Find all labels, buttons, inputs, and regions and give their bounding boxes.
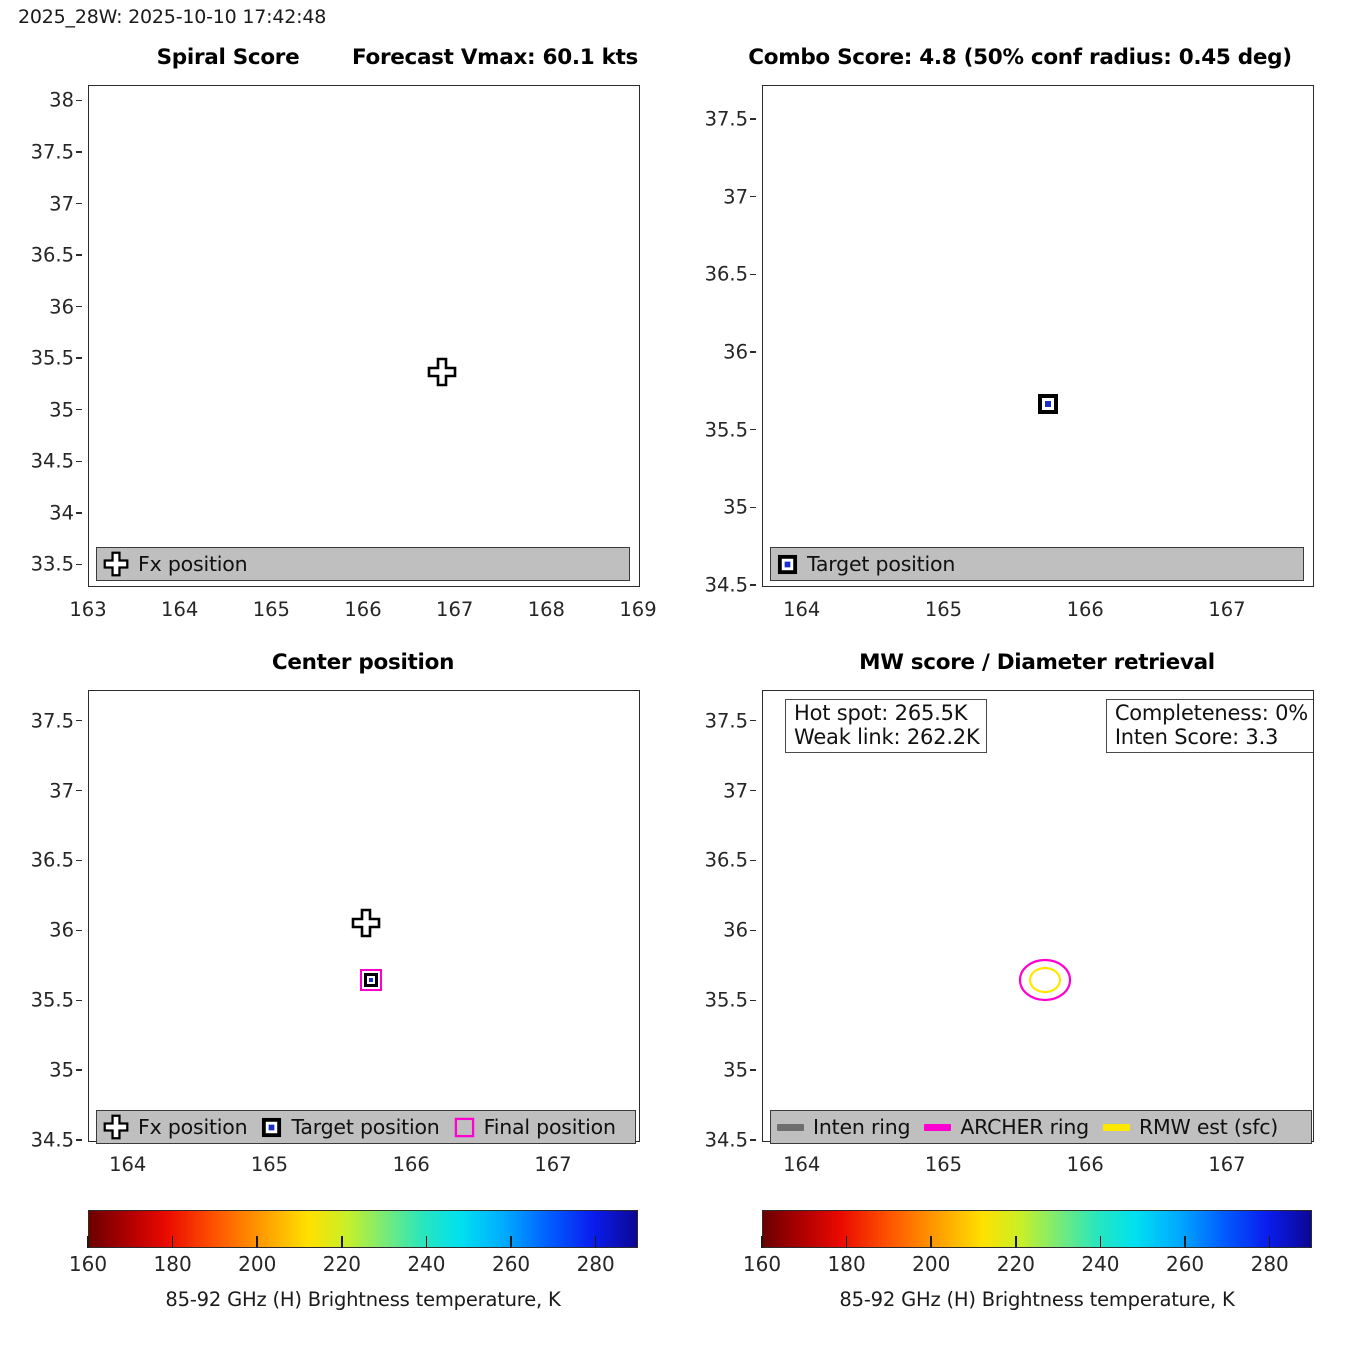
- legend-entry-fx-position: Fx position: [103, 1114, 247, 1140]
- mwscore-x-axis: 164165166167: [762, 1147, 1312, 1175]
- y-axis-tickmark: [76, 306, 82, 307]
- y-axis-tickmark: [76, 930, 82, 931]
- y-axis-tick-label: 34.5: [705, 1129, 748, 1152]
- y-axis-tickmark: [76, 720, 82, 721]
- panel-spiral-title-right: Forecast Vmax: 60.1 kts: [340, 45, 650, 70]
- mwscore-grid-overlay: [763, 691, 1313, 1141]
- y-axis-tickmark: [76, 100, 82, 101]
- colorbar-ticklabel: 280: [1251, 1252, 1289, 1276]
- y-axis-tick-label: 37: [49, 192, 74, 215]
- y-axis-tick-label: 35: [723, 496, 748, 519]
- y-axis-tick-label: 37.5: [31, 709, 74, 732]
- target-square-icon: [777, 554, 798, 575]
- x-axis-tick-label: 163: [69, 598, 106, 621]
- x-axis-tick-label: 165: [925, 598, 962, 621]
- y-axis-tick-label: 36: [723, 919, 748, 942]
- y-axis-tickmark: [76, 151, 82, 152]
- x-axis-tick-label: 167: [1208, 598, 1245, 621]
- inten-score-value: Inten Score: 3.3: [1115, 726, 1308, 750]
- y-axis-tickmark: [76, 1069, 82, 1070]
- y-axis-tick-label: 35.5: [31, 989, 74, 1012]
- colorbar-tickmark: [1269, 1236, 1271, 1248]
- center-plot-area[interactable]: [88, 690, 640, 1142]
- spiral-plot-area[interactable]: [88, 85, 640, 587]
- colorbar-tickmark: [930, 1236, 932, 1248]
- x-axis-tick-label: 169: [619, 598, 656, 621]
- y-axis-tickmark: [76, 254, 82, 255]
- y-axis-tickmark: [750, 584, 756, 585]
- colorbar-ticklabel: 280: [577, 1252, 615, 1276]
- colorbar-right-strip: [762, 1210, 1312, 1248]
- y-axis-tickmark: [76, 860, 82, 861]
- colorbar-ticklabel: 260: [492, 1252, 530, 1276]
- y-axis-tick-label: 36.5: [31, 244, 74, 267]
- y-axis-tickmark: [750, 720, 756, 721]
- spiral-contour-overlay: [89, 86, 639, 586]
- panel-mwscore-title: MW score / Diameter retrieval: [762, 650, 1312, 675]
- y-axis-tick-label: 38: [49, 89, 74, 112]
- spiral-y-axis: 3837.53736.53635.53534.53433.5: [0, 85, 82, 585]
- y-axis-tick-label: 34.5: [31, 1129, 74, 1152]
- mwscore-annotation-right: Completeness: 0% Inten Score: 3.3: [1106, 699, 1314, 753]
- y-axis-tick-label: 37.5: [705, 108, 748, 131]
- header-timestamp: 2025_28W: 2025-10-10 17:42:48: [18, 6, 326, 28]
- x-axis-tick-label: 166: [344, 598, 381, 621]
- x-axis-tick-label: 166: [1067, 598, 1104, 621]
- y-axis-tick-label: 36: [49, 919, 74, 942]
- figure-canvas: 2025_28W: 2025-10-10 17:42:48 Spiral Sco…: [0, 0, 1350, 1350]
- y-axis-tick-label: 35.5: [31, 347, 74, 370]
- combo-plot-area[interactable]: [762, 85, 1314, 587]
- archer-ring: [1020, 960, 1070, 1000]
- legend-label-archer-ring: ARCHER ring: [960, 1115, 1089, 1139]
- y-axis-tickmark: [750, 860, 756, 861]
- colorbar-left-wrap: 160180200220240260280 85-92 GHz (H) Brig…: [88, 1210, 638, 1320]
- y-axis-tick-label: 37: [49, 779, 74, 802]
- y-axis-tick-label: 36.5: [705, 849, 748, 872]
- colorbar-ticklabel: 220: [323, 1252, 361, 1276]
- x-axis-tick-label: 164: [783, 1153, 820, 1176]
- legend-entry-archer-ring: ARCHER ring: [924, 1115, 1089, 1139]
- y-axis-tickmark: [76, 461, 82, 462]
- combo-legend: Target position: [770, 547, 1304, 581]
- fx-position-marker: [351, 908, 381, 938]
- fx-cross-icon: [103, 551, 129, 577]
- fx-position-marker: [427, 357, 457, 387]
- x-axis-tick-label: 166: [1067, 1153, 1104, 1176]
- y-axis-tick-label: 36: [723, 341, 748, 364]
- colorbar-ticklabel: 200: [238, 1252, 276, 1276]
- y-axis-tick-label: 34.5: [705, 574, 748, 597]
- colorbar-tickmark: [761, 1236, 763, 1248]
- rmw-ring-icon: [1103, 1124, 1130, 1131]
- colorbar-tickmark: [172, 1236, 174, 1248]
- combo-score-contour-overlay: [763, 86, 1313, 586]
- y-axis-tickmark: [76, 564, 82, 565]
- y-axis-tickmark: [76, 203, 82, 204]
- colorbar-tickmark: [846, 1236, 848, 1248]
- spiral-x-axis: 163164165166167168169: [88, 592, 638, 620]
- mwscore-legend: Inten ring ARCHER ring RMW est (sfc): [770, 1110, 1312, 1144]
- mwscore-plot-area[interactable]: Hot spot: 265.5K Weak link: 262.2K Compl…: [762, 690, 1314, 1142]
- legend-label-target-position: Target position: [291, 1115, 439, 1139]
- center-y-axis: 37.53736.53635.53534.5: [0, 690, 82, 1140]
- target-square-icon: [261, 1117, 282, 1138]
- legend-entry-final-position: Final position: [454, 1115, 616, 1139]
- y-axis-tick-label: 35.5: [705, 989, 748, 1012]
- fx-cross-icon: [103, 1114, 129, 1140]
- colorbar-tickmark: [341, 1236, 343, 1248]
- colorbar-tickmark: [256, 1236, 258, 1248]
- colorbar-left-strip: [88, 1210, 638, 1248]
- hot-spot-value: Hot spot: 265.5K: [794, 702, 980, 726]
- colorbar-tickmark: [426, 1236, 428, 1248]
- rmw-ring: [1030, 968, 1060, 992]
- y-axis-tickmark: [750, 274, 756, 275]
- colorbar-ticklabel: 200: [912, 1252, 950, 1276]
- y-axis-tick-label: 37.5: [705, 709, 748, 732]
- y-axis-tick-label: 35.5: [705, 418, 748, 441]
- colorbar-ticklabel: 160: [69, 1252, 107, 1276]
- colorbar-ticklabel: 180: [828, 1252, 866, 1276]
- combo-y-axis: 37.53736.53635.53534.5: [676, 85, 756, 585]
- y-axis-tickmark: [750, 790, 756, 791]
- y-axis-tickmark: [76, 512, 82, 513]
- y-axis-tick-label: 33.5: [31, 553, 74, 576]
- colorbar-tickmark: [1184, 1236, 1186, 1248]
- colorbar-ticklabel: 180: [154, 1252, 192, 1276]
- y-axis-tick-label: 36.5: [31, 849, 74, 872]
- y-axis-tickmark: [750, 1139, 756, 1140]
- y-axis-tick-label: 37: [723, 779, 748, 802]
- y-axis-tickmark: [76, 409, 82, 410]
- y-axis-tickmark: [750, 930, 756, 931]
- y-axis-tick-label: 37.5: [31, 141, 74, 164]
- colorbar-ticklabel: 160: [743, 1252, 781, 1276]
- y-axis-tickmark: [76, 357, 82, 358]
- y-axis-tick-label: 34.5: [31, 450, 74, 473]
- colorbar-left-caption: 85-92 GHz (H) Brightness temperature, K: [48, 1288, 678, 1311]
- mwscore-annotation-left: Hot spot: 265.5K Weak link: 262.2K: [785, 699, 987, 753]
- final-position-marker: [360, 969, 382, 991]
- colorbar-right-caption: 85-92 GHz (H) Brightness temperature, K: [722, 1288, 1350, 1311]
- y-axis-tick-label: 35: [49, 1059, 74, 1082]
- legend-entry-target-position: Target position: [261, 1115, 439, 1139]
- y-axis-tickmark: [750, 196, 756, 197]
- center-x-axis: 164165166167: [88, 1147, 638, 1175]
- x-axis-tick-label: 166: [393, 1153, 430, 1176]
- colorbar-ticklabel: 240: [407, 1252, 445, 1276]
- colorbar-ticklabel: 260: [1166, 1252, 1204, 1276]
- x-axis-tick-label: 164: [109, 1153, 146, 1176]
- colorbar-tickmark: [87, 1236, 89, 1248]
- target-position-marker: [1037, 393, 1059, 415]
- mwscore-y-axis: 37.53736.53635.53534.5: [676, 690, 756, 1140]
- legend-label-fx-position: Fx position: [138, 552, 247, 576]
- inten-ring-icon: [777, 1124, 804, 1131]
- legend-label-target-position: Target position: [807, 552, 955, 576]
- y-axis-tickmark: [750, 118, 756, 119]
- legend-label-inten-ring: Inten ring: [813, 1115, 910, 1139]
- y-axis-tick-label: 34: [49, 501, 74, 524]
- y-axis-tickmark: [76, 790, 82, 791]
- spiral-legend: Fx position: [96, 547, 630, 581]
- legend-entry-fx-position: Fx position: [103, 551, 247, 577]
- colorbar-right-wrap: 160180200220240260280 85-92 GHz (H) Brig…: [762, 1210, 1312, 1320]
- archer-ring-icon: [924, 1124, 951, 1131]
- diameter-rings: [1010, 945, 1080, 1015]
- y-axis-tickmark: [750, 1000, 756, 1001]
- y-axis-tickmark: [76, 1139, 82, 1140]
- colorbar-ticklabel: 220: [997, 1252, 1035, 1276]
- y-axis-tickmark: [76, 1000, 82, 1001]
- y-axis-tickmark: [750, 507, 756, 508]
- x-axis-tick-label: 167: [534, 1153, 571, 1176]
- x-axis-tick-label: 168: [528, 598, 565, 621]
- combo-x-axis: 164165166167: [762, 592, 1312, 620]
- colorbar-tickmark: [1100, 1236, 1102, 1248]
- colorbar-ticklabel: 240: [1081, 1252, 1119, 1276]
- final-square-icon: [454, 1117, 475, 1138]
- panel-combo-title: Combo Score: 4.8 (50% conf radius: 0.45 …: [700, 45, 1340, 70]
- center-legend: Fx position Target position: [96, 1110, 636, 1144]
- x-axis-tick-label: 165: [925, 1153, 962, 1176]
- y-axis-tick-label: 35: [723, 1059, 748, 1082]
- colorbar-tickmark: [510, 1236, 512, 1248]
- colorbar-tickmark: [595, 1236, 597, 1248]
- legend-entry-target-position: Target position: [777, 552, 955, 576]
- completeness-value: Completeness: 0%: [1115, 702, 1308, 726]
- x-axis-tick-label: 167: [1208, 1153, 1245, 1176]
- y-axis-tickmark: [750, 351, 756, 352]
- x-axis-tick-label: 165: [253, 598, 290, 621]
- legend-entry-inten-ring: Inten ring: [777, 1115, 910, 1139]
- y-axis-tickmark: [750, 1069, 756, 1070]
- panel-center-title: Center position: [88, 650, 638, 675]
- legend-label-rmw-ring: RMW est (sfc): [1139, 1115, 1278, 1139]
- x-axis-tick-label: 165: [251, 1153, 288, 1176]
- y-axis-tick-label: 37: [723, 185, 748, 208]
- weak-link-value: Weak link: 262.2K: [794, 726, 980, 750]
- panel-spiral-title-left: Spiral Score: [88, 45, 368, 70]
- y-axis-tick-label: 36: [49, 295, 74, 318]
- legend-label-final-position: Final position: [484, 1115, 616, 1139]
- legend-label-fx-position: Fx position: [138, 1115, 247, 1139]
- y-axis-tick-label: 36.5: [705, 263, 748, 286]
- y-axis-tick-label: 35: [49, 398, 74, 421]
- x-axis-tick-label: 164: [783, 598, 820, 621]
- x-axis-tick-label: 167: [436, 598, 473, 621]
- legend-entry-rmw-ring: RMW est (sfc): [1103, 1115, 1278, 1139]
- y-axis-tickmark: [750, 429, 756, 430]
- x-axis-tick-label: 164: [161, 598, 198, 621]
- colorbar-tickmark: [1015, 1236, 1017, 1248]
